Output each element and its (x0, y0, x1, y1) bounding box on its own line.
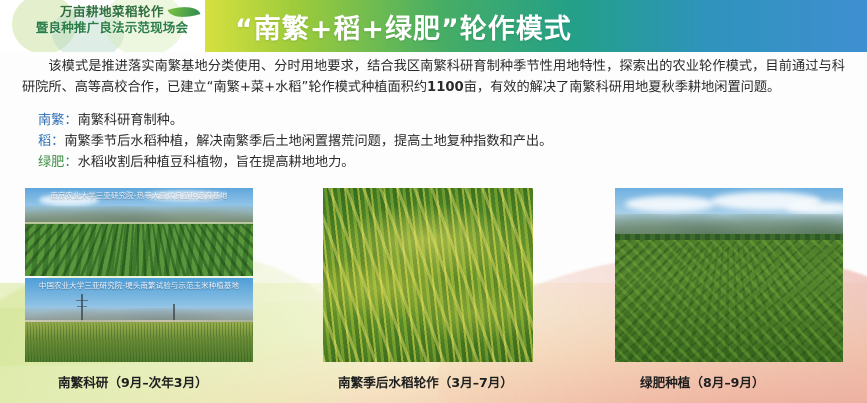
photo-cloud (625, 196, 715, 212)
photo-column-rice (323, 188, 533, 362)
page-title: “南繁+稻+绿肥”轮作模式 (235, 7, 572, 46)
photo-overlay-caption: 中国农业大学三亚研究院-埂头南繁试验与示范玉米种植基地 (25, 280, 253, 291)
photo-column-nanfan: 南京农业大学三亚研究院-热带大豆优良品种选育基地 中国农业大学三亚研究院-埂头南… (25, 188, 253, 362)
photo-row: 南京农业大学三亚研究院-热带大豆优良品种选育基地 中国农业大学三亚研究院-埂头南… (0, 188, 867, 366)
definition-item-greenmanure: 绿肥：水稻收割后种植豆科植物，旨在提高耕地地力。 (38, 152, 867, 173)
photo-rice-highlight (323, 188, 533, 362)
photo-rice-closeup (323, 188, 533, 362)
photo-crop-rows (615, 246, 843, 362)
event-logo: 万亩耕地菜稻轮作 暨良种推广良法示范现场会 (0, 0, 205, 52)
definition-term-nanfan: 南繁： (38, 113, 78, 128)
definition-list: 南繁：南繁科研育制种。 稻：南繁季节后水稻种植，解决南繁季后土地闲置撂荒问题，提… (38, 110, 867, 173)
definition-item-rice: 稻：南繁季节后水稻种植，解决南繁季后土地闲置撂荒问题，提高土地复种指数和产出。 (38, 131, 867, 152)
photo-greenmanure-field (615, 188, 843, 362)
stage-caption-rice: 南繁季后水稻轮作（3月–7月） (338, 372, 513, 391)
logo-line-2: 暨良种推广良法示范现场会 (22, 22, 202, 35)
photo-corn-base: 中国农业大学三亚研究院-埂头南繁试验与示范玉米种植基地 (25, 278, 253, 362)
photo-soybean-base: 南京农业大学三亚研究院-热带大豆优良品种选育基地 (25, 188, 253, 276)
photo-tower-bar (76, 300, 88, 301)
definition-text-nanfan: 南繁科研育制种。 (78, 113, 184, 128)
photo-tower-bar (77, 306, 87, 307)
intro-paragraph-part2: 亩，有效的解决了南繁科研用地夏秋季耕地闲置问题。 (464, 80, 781, 95)
stage-caption-nanfan: 南繁科研（9月–次年3月） (58, 372, 208, 391)
definition-term-rice: 稻： (38, 134, 64, 149)
stage-caption-greenmanure: 绿肥种植（8月–9月） (640, 372, 765, 391)
intro-paragraph: 该模式是推进落实南繁基地分类使用、分时用地要求，结合我区南繁科研育制种季节性用地… (22, 56, 845, 98)
photo-corn-crop (25, 322, 253, 362)
definition-text-rice: 南繁季节后水稻种植，解决南繁季后土地闲置撂荒问题，提高土地复种指数和产出。 (64, 134, 552, 149)
definition-term-greenmanure: 绿肥： (38, 155, 78, 170)
slide-root: 万亩耕地菜稻轮作 暨良种推广良法示范现场会 “南繁+稻+绿肥”轮作模式 该模式是… (0, 0, 867, 403)
definition-text-greenmanure: 水稻收割后种植豆科植物，旨在提高耕地地力。 (78, 155, 355, 170)
definition-item-nanfan: 南繁：南繁科研育制种。 (38, 110, 867, 131)
title-banner: “南繁+稻+绿肥”轮作模式 (205, 0, 867, 52)
photo-crop-rows (25, 224, 253, 276)
header: 万亩耕地菜稻轮作 暨良种推广良法示范现场会 “南繁+稻+绿肥”轮作模式 (0, 0, 867, 52)
area-value: 1100 (427, 80, 464, 95)
body-content: 该模式是推进落实南繁基地分类使用、分时用地要求，结合我区南繁科研育制种季节性用地… (0, 56, 867, 173)
photo-overlay-caption: 南京农业大学三亚研究院-热带大豆优良品种选育基地 (25, 190, 253, 201)
photo-column-greenmanure (615, 188, 843, 362)
stage-caption-row: 南繁科研（9月–次年3月） 南繁季后水稻轮作（3月–7月） 绿肥种植（8月–9月… (0, 372, 867, 396)
